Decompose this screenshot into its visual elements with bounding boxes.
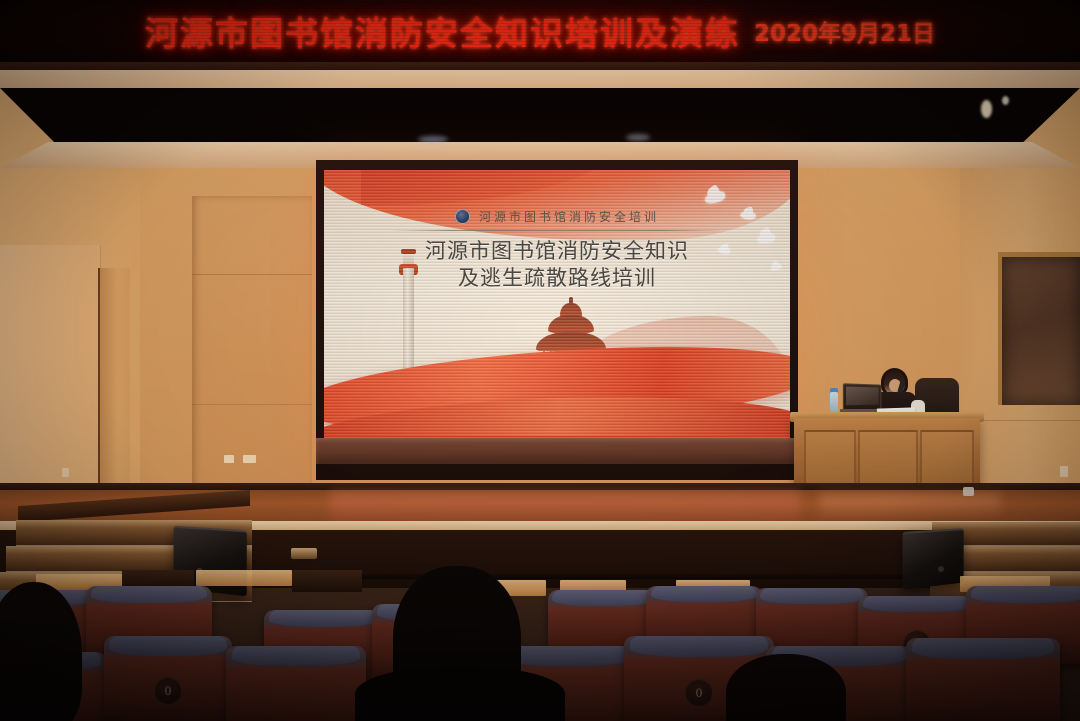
auditorium-photo: 河源市图书馆消防安全知识培训及演练 2020年9月21日 [0, 0, 1080, 721]
audience-member-silhouette [726, 654, 846, 721]
wall-outlet-icon [62, 468, 69, 477]
seat-headrest [863, 596, 972, 612]
seat-headrest [91, 586, 207, 603]
slide-divider [389, 230, 725, 231]
seat-headrest [269, 610, 378, 627]
wall-outlet-icon [243, 455, 256, 463]
library-emblem-icon [455, 209, 470, 224]
ceiling-light-icon [981, 100, 992, 118]
side-door[interactable] [98, 268, 130, 490]
ceiling-trim-outer [0, 70, 1080, 90]
seat-headrest [504, 646, 633, 666]
slide-title-line-1: 河源市图书馆消防安全知识 [324, 238, 790, 265]
seat[interactable] [906, 638, 1060, 721]
seat-headrest [232, 646, 361, 666]
audience-member-shoulders [355, 666, 565, 721]
seat[interactable]: 0 [104, 636, 232, 721]
wall-outlet-icon [224, 455, 234, 463]
seat[interactable] [226, 646, 366, 721]
seat-number-badge: 0 [154, 677, 182, 705]
ceiling-light-icon [626, 134, 650, 141]
control-booth-window [998, 252, 1080, 405]
slide-title-line-2: 及逃生疏散路线培训 [324, 265, 790, 292]
floor-object [963, 487, 974, 496]
slide-surface: 河源市图书馆消防安全培训 河源市图书馆消防安全知识 及逃生疏散路线培训 [324, 170, 790, 462]
ceiling-light-icon [418, 136, 448, 143]
seat-headrest [552, 590, 653, 606]
seat-headrest [651, 586, 758, 602]
seat-headrest [971, 586, 1080, 603]
wall-outlet-icon [1060, 466, 1068, 477]
slide-text-block: 河源市图书馆消防安全培训 河源市图书馆消防安全知识 及逃生疏散路线培训 [324, 208, 790, 292]
seat-number-badge: 0 [685, 679, 713, 707]
stage-vent-icon [291, 548, 317, 559]
stage-light-spill [196, 570, 292, 586]
water-bottle-icon [830, 392, 838, 412]
wall-alcove [192, 196, 312, 496]
ceiling-recess [0, 88, 1080, 150]
seat-headrest [760, 588, 863, 604]
seat-shadow-gap [292, 570, 362, 592]
wall-seam [192, 404, 312, 405]
laptop-screen [846, 387, 879, 406]
seat-headrest [912, 638, 1054, 659]
seat-headrest [109, 636, 227, 656]
led-screen-lower-bezel [316, 438, 798, 464]
slide-subtitle: 河源市图书馆消防安全培训 [479, 208, 659, 225]
ceiling-light-icon [1002, 96, 1009, 105]
left-wall-panel [0, 245, 101, 490]
banner-title: 河源市图书馆消防安全知识培训及演练 [145, 7, 740, 55]
led-screen: 河源市图书馆消防安全培训 河源市图书馆消防安全知识 及逃生疏散路线培训 [316, 160, 798, 480]
wall-seam [192, 274, 312, 275]
seat-headrest [630, 636, 768, 657]
banner-date: 2020年9月21日 [754, 14, 935, 48]
led-banner: 河源市图书馆消防安全知识培训及演练 2020年9月21日 [0, 0, 1080, 62]
slide-subtitle-row: 河源市图书馆消防安全培训 [324, 208, 790, 225]
